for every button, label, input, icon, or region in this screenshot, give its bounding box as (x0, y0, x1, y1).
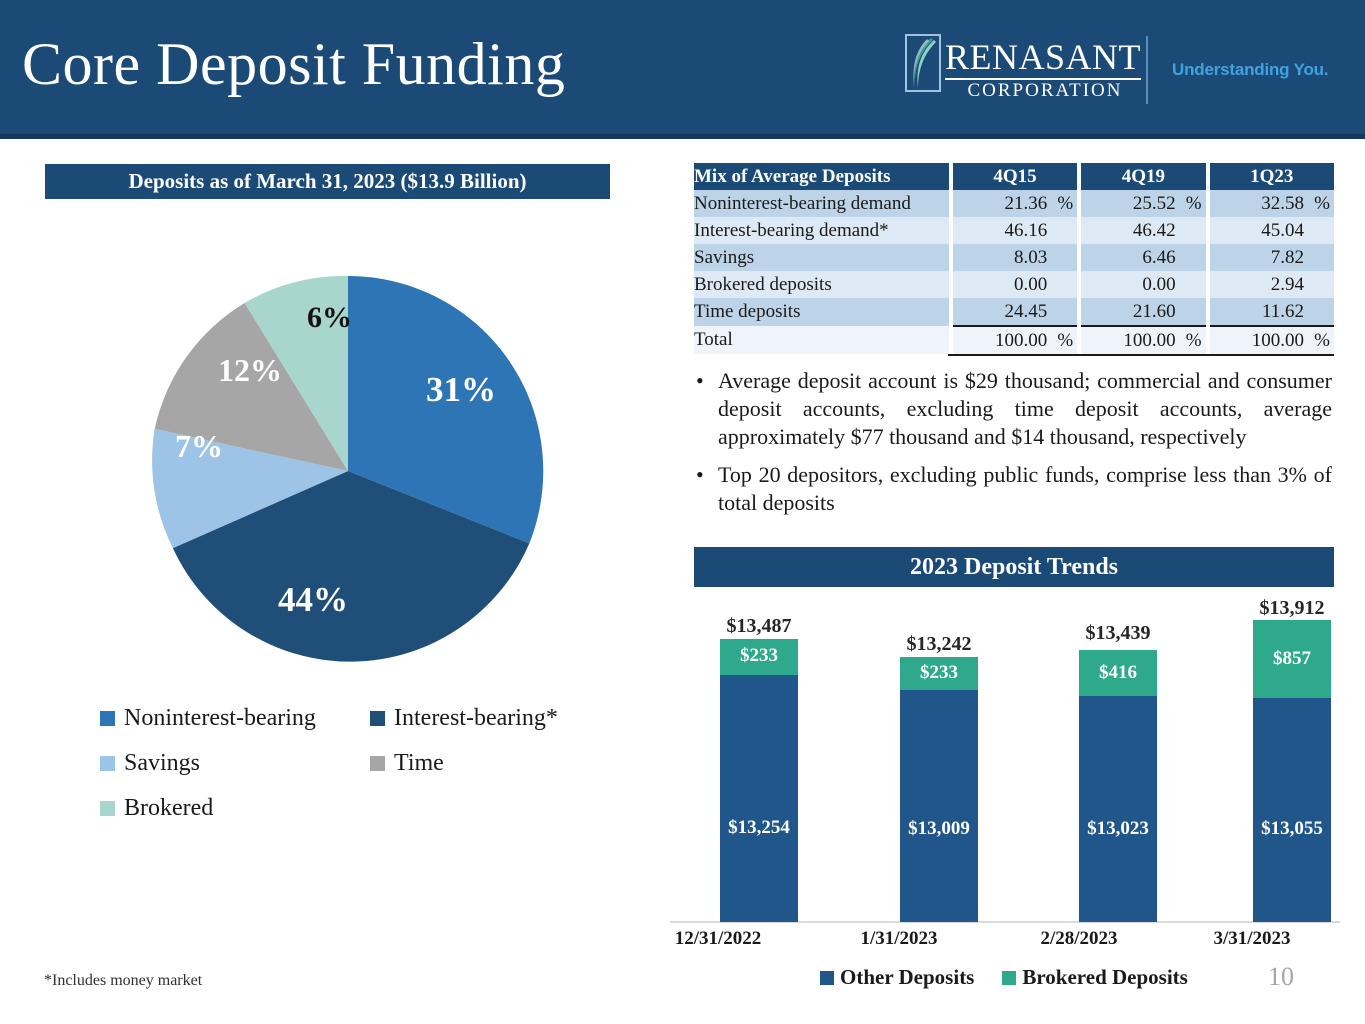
bar-category-label-4: 3/31/2023 (1182, 928, 1322, 950)
cell-4q19: 6.46 (1079, 244, 1207, 271)
bar-segment-brokered: $416 (1079, 650, 1157, 696)
pie-label-noninterest-bearing: 31% (426, 370, 496, 410)
pie-label-savings: 7% (175, 428, 223, 465)
bar-segment-other: $13,055 (1253, 698, 1331, 922)
cell-1q23: 32.58% (1208, 190, 1334, 217)
pie-chart-banner: Deposits as of March 31, 2023 ($13.9 Bil… (45, 164, 610, 199)
bullet-list: • Average deposit account is $29 thousan… (696, 367, 1336, 527)
bar-total-3: $13,439 (1058, 622, 1178, 645)
header-bottom-stripe (0, 134, 1365, 139)
cell-1q23: 7.82 (1208, 244, 1334, 271)
bar-chart: $233 $13,254 $13,487 $233 $13,009 $13,24… (670, 592, 1340, 922)
bar-category-label-1: 12/31/2022 (648, 928, 788, 950)
table-col-header-label: Mix of Average Deposits (694, 163, 951, 190)
cell-4q19: 25.52% (1079, 190, 1207, 217)
table-row: Interest-bearing demand* 46.16 46.42 45.… (694, 217, 1334, 244)
cell-4q15: 0.00 (951, 271, 1079, 298)
bar-segment-brokered: $233 (900, 657, 978, 690)
bar-total-2: $13,242 (879, 633, 999, 656)
bar-segment-brokered: $857 (1253, 620, 1331, 698)
leaf-swoosh-icon (907, 36, 939, 90)
table-row: Brokered deposits 0.00 0.00 2.94 (694, 271, 1334, 298)
bar-segment-other: $13,254 (720, 675, 798, 922)
pie-legend-row: Brokered (100, 796, 640, 841)
legend-label: Noninterest-bearing (124, 706, 316, 730)
legend-label: Brokered (124, 796, 213, 820)
bar-chart-legend: Other Deposits Brokered Deposits (820, 965, 1216, 990)
cell-4q15: 24.45 (951, 298, 1079, 326)
slide-header: Core Deposit Funding RENASANT CORPORATIO… (0, 0, 1365, 138)
pie-label-interest-bearing: 44% (278, 580, 348, 620)
table-header-row: Mix of Average Deposits 4Q15 4Q19 1Q23 (694, 163, 1334, 190)
logo-leaf-icon (905, 34, 941, 92)
mix-of-average-deposits-table: Mix of Average Deposits 4Q15 4Q19 1Q23 N… (694, 163, 1334, 354)
bar-category-label-3: 2/28/2023 (1009, 928, 1149, 950)
row-label: Time deposits (694, 298, 951, 326)
bar-value-other: $13,055 (1253, 818, 1331, 840)
table-col-header-4q15: 4Q15 (951, 163, 1079, 190)
pie-label-time: 12% (218, 352, 282, 389)
row-label-total: Total (694, 326, 951, 354)
footnote: *Includes money market (44, 972, 202, 990)
legend-swatch-icon (370, 711, 385, 726)
bar-value-other: $13,254 (720, 817, 798, 839)
renasant-logo: RENASANT CORPORATION (905, 34, 1145, 106)
cell-4q19: 46.42 (1079, 217, 1207, 244)
bar-value-other: $13,009 (900, 818, 978, 840)
legend-swatch-icon (1002, 971, 1016, 985)
cell-4q19: 21.60 (1079, 298, 1207, 326)
table-col-header-1q23: 1Q23 (1208, 163, 1334, 190)
table-row: Time deposits 24.45 21.60 11.62 (694, 298, 1334, 326)
bullet-dot-icon: • (696, 461, 718, 517)
legend-label: Time (394, 751, 444, 775)
table-row: Noninterest-bearing demand 21.36% 25.52%… (694, 190, 1334, 217)
legend-item-noninterest-bearing[interactable]: Noninterest-bearing (100, 706, 370, 730)
bar-value-other: $13,023 (1079, 818, 1157, 840)
cell-total-4q19: 100.00% (1079, 326, 1207, 354)
bullet-text: Average deposit account is $29 thousand;… (718, 367, 1332, 451)
pie-chart: 31% 44% 7% 12% 6% (148, 276, 548, 666)
table-row: Savings 8.03 6.46 7.82 (694, 244, 1334, 271)
list-item: • Top 20 depositors, excluding public fu… (696, 461, 1336, 517)
legend-label: Interest-bearing* (394, 706, 558, 730)
legend-item-savings[interactable]: Savings (100, 751, 370, 775)
cell-1q23: 2.94 (1208, 271, 1334, 298)
bullet-dot-icon: • (696, 367, 718, 451)
bar-total-4: $13,912 (1232, 597, 1352, 620)
table-bottom-rule (948, 354, 1334, 356)
legend-item-brokered[interactable]: Brokered (100, 796, 378, 820)
legend-swatch-icon (370, 756, 385, 771)
cell-1q23: 11.62 (1208, 298, 1334, 326)
cell-4q15: 8.03 (951, 244, 1079, 271)
row-label: Noninterest-bearing demand (694, 190, 951, 217)
pie-legend: Noninterest-bearing Interest-bearing* Sa… (100, 706, 640, 841)
pie-legend-row: Savings Time (100, 751, 640, 796)
cell-4q15: 21.36% (951, 190, 1079, 217)
bar-value-brokered: $416 (1079, 662, 1157, 684)
legend-item-brokered-deposits[interactable]: Brokered Deposits (1002, 965, 1187, 990)
legend-swatch-icon (100, 756, 115, 771)
cell-4q19: 0.00 (1079, 271, 1207, 298)
bar-segment-other: $13,009 (900, 690, 978, 922)
bullet-text: Top 20 depositors, excluding public fund… (718, 461, 1332, 517)
table-total-row: Total 100.00% 100.00% 100.00% (694, 326, 1334, 354)
legend-item-time[interactable]: Time (370, 751, 640, 775)
bar-value-brokered: $233 (720, 645, 798, 667)
bar-group-1[interactable]: $233 $13,254 (720, 639, 798, 922)
table-col-header-4q19: 4Q19 (1079, 163, 1207, 190)
bar-category-label-2: 1/31/2023 (829, 928, 969, 950)
logo-divider (1146, 36, 1148, 104)
bar-value-brokered: $857 (1253, 648, 1331, 670)
list-item: • Average deposit account is $29 thousan… (696, 367, 1336, 451)
bar-group-4[interactable]: $857 $13,055 (1253, 620, 1331, 922)
cell-total-4q15: 100.00% (951, 326, 1079, 354)
legend-label: Other Deposits (840, 965, 974, 990)
bar-group-3[interactable]: $416 $13,023 (1079, 650, 1157, 922)
bar-group-2[interactable]: $233 $13,009 (900, 657, 978, 922)
bar-total-1: $13,487 (699, 615, 819, 638)
legend-item-interest-bearing[interactable]: Interest-bearing* (370, 706, 640, 730)
bar-segment-other: $13,023 (1079, 696, 1157, 922)
page-title: Core Deposit Funding (22, 28, 565, 100)
bar-segment-brokered: $233 (720, 639, 798, 675)
page-number: 10 (1268, 962, 1294, 992)
brand-tagline: Understanding You. (1172, 60, 1328, 80)
legend-label: Savings (124, 751, 200, 775)
logo-subtitle: CORPORATION (945, 80, 1145, 102)
bar-chart-banner: 2023 Deposit Trends (694, 547, 1334, 587)
pie-legend-row: Noninterest-bearing Interest-bearing* (100, 706, 640, 751)
legend-swatch-icon (820, 971, 834, 985)
legend-swatch-icon (100, 711, 115, 726)
row-label: Interest-bearing demand* (694, 217, 951, 244)
row-label: Brokered deposits (694, 271, 951, 298)
pie-label-brokered: 6% (307, 301, 352, 335)
legend-item-other-deposits[interactable]: Other Deposits (820, 965, 974, 990)
bar-value-brokered: $233 (900, 662, 978, 684)
cell-4q15: 46.16 (951, 217, 1079, 244)
legend-label: Brokered Deposits (1022, 965, 1187, 990)
cell-1q23: 45.04 (1208, 217, 1334, 244)
logo-wordmark: RENASANT (945, 38, 1145, 76)
row-label: Savings (694, 244, 951, 271)
legend-swatch-icon (100, 801, 115, 816)
cell-total-1q23: 100.00% (1208, 326, 1334, 354)
